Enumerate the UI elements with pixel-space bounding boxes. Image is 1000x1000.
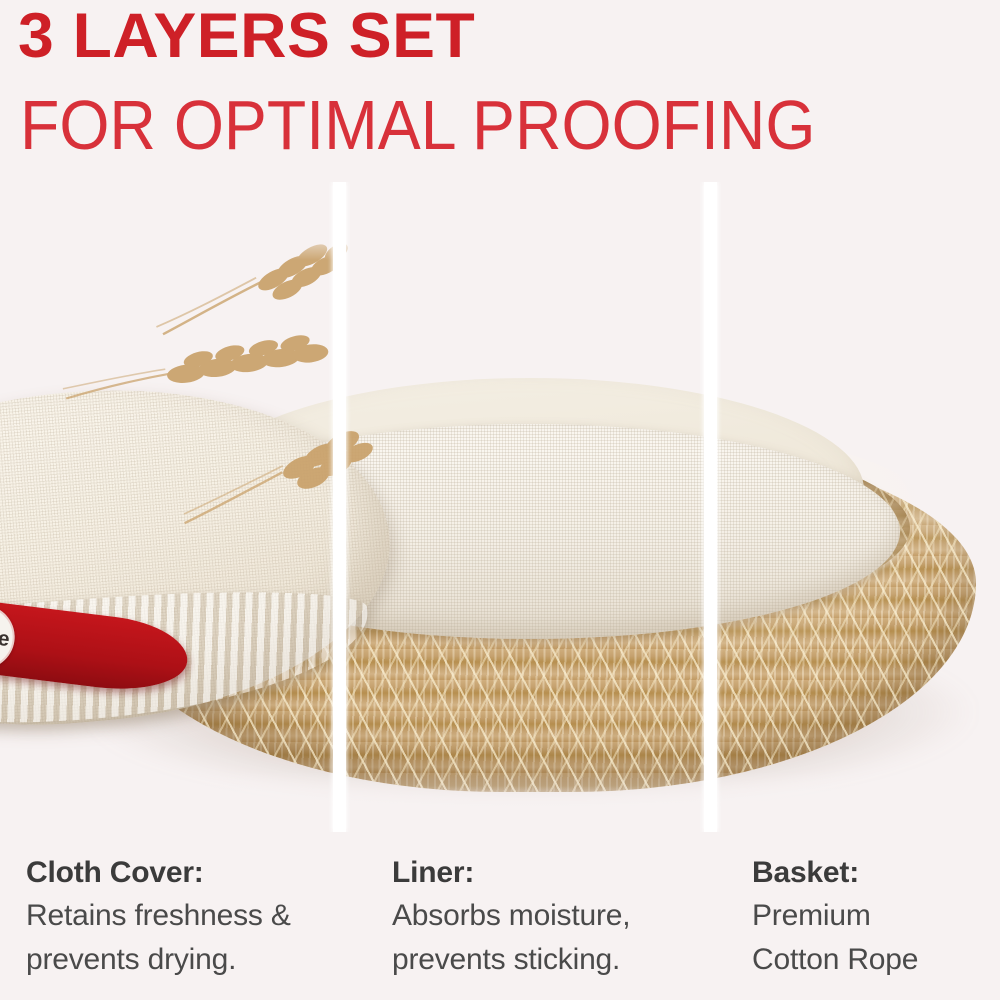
- caption-body-line: prevents drying.: [26, 938, 336, 982]
- brand-logo: Ace: [0, 601, 18, 672]
- caption-liner: Liner: Absorbs moisture, prevents sticki…: [392, 852, 692, 982]
- caption-basket: Basket: Premium Cotton Rope: [752, 852, 992, 982]
- caption-body-line: Retains freshness &: [26, 894, 336, 938]
- headline-secondary: FOR OPTIMAL PROOFING: [20, 88, 816, 162]
- caption-label: Cloth Cover:: [26, 852, 336, 894]
- product-photo: Ace: [0, 182, 1000, 832]
- panel-divider-2: [704, 182, 717, 832]
- headline-primary: 3 LAYERS SET: [18, 2, 475, 70]
- panel-divider-1: [333, 182, 346, 832]
- caption-body-line: prevents sticking.: [392, 938, 692, 982]
- caption-body-line: Cotton Rope: [752, 938, 992, 982]
- brand-logo-text: Ace: [0, 624, 10, 652]
- product-photo-inner: Ace: [0, 182, 1000, 832]
- caption-row: Cloth Cover: Retains freshness & prevent…: [0, 838, 1000, 1000]
- caption-body-line: Absorbs moisture,: [392, 894, 692, 938]
- photo-top-fade: [0, 182, 1000, 260]
- caption-label: Liner:: [392, 852, 692, 894]
- caption-cloth-cover: Cloth Cover: Retains freshness & prevent…: [26, 852, 336, 982]
- caption-body-line: Premium: [752, 894, 992, 938]
- caption-label: Basket:: [752, 852, 992, 894]
- photo-bottom-fade: [0, 772, 1000, 832]
